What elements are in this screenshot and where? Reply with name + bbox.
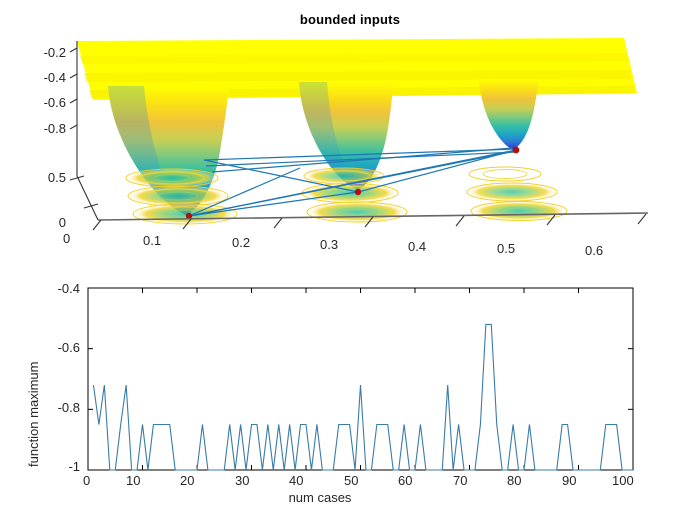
xtick-label-6: 0.6 [585, 243, 603, 258]
xtick-label-4: 0.4 [408, 239, 426, 254]
xtick-label-40: 40 [289, 473, 303, 488]
xtick-label-80: 80 [507, 473, 521, 488]
xtick-label-100: 100 [612, 473, 634, 488]
ytick-label-1: 0.5 [14, 170, 66, 185]
xtick-label-5: 0.5 [497, 241, 515, 256]
xtick-label-1: 0.1 [143, 233, 161, 248]
surface-3d-canvas [0, 0, 700, 262]
xtick-label-70: 70 [453, 473, 467, 488]
xtick-label-30: 30 [235, 473, 249, 488]
xtick-label-3: 0.3 [320, 237, 338, 252]
xtick-label-20: 20 [180, 473, 194, 488]
x-axis-label: num cases [0, 490, 670, 505]
xtick-label-0: 0 [83, 473, 90, 488]
ztick-label-3: -0.8 [14, 121, 66, 136]
function-maximum-axes: function maximum num cases -0.4 -0.6 -0.… [0, 262, 700, 525]
contour-group-1 [126, 169, 237, 224]
ytick-label-m1: -1 [26, 459, 80, 474]
plot-box [88, 288, 633, 470]
contour-group-3 [467, 167, 567, 221]
ztick-label-2: -0.6 [14, 95, 66, 110]
function-maximum-line [93, 324, 633, 470]
axis-ticks [88, 288, 633, 470]
xtick-label-60: 60 [398, 473, 412, 488]
ztick-label-1: -0.4 [14, 70, 66, 85]
xtick-label-0: 0 [63, 231, 70, 246]
ytick-label-m08: -0.8 [26, 400, 80, 415]
chart-title-3d: bounded inputs [0, 12, 700, 27]
xtick-label-2: 0.2 [232, 235, 250, 250]
matlab-figure-window: bounded inputs -0.2 -0.4 -0.6 -0.8 0.5 0… [0, 0, 700, 525]
ztick-label-0: -0.2 [14, 45, 66, 60]
ytick-label-m04: -0.4 [26, 281, 80, 296]
surface-3d-axes: bounded inputs -0.2 -0.4 -0.6 -0.8 0.5 0… [0, 0, 700, 262]
xtick-label-90: 90 [562, 473, 576, 488]
surface-well-3 [479, 79, 539, 150]
ytick-label-m06: -0.6 [26, 340, 80, 355]
xtick-label-10: 10 [126, 473, 140, 488]
ytick-label-0: 0 [14, 215, 66, 230]
xtick-label-50: 50 [344, 473, 358, 488]
